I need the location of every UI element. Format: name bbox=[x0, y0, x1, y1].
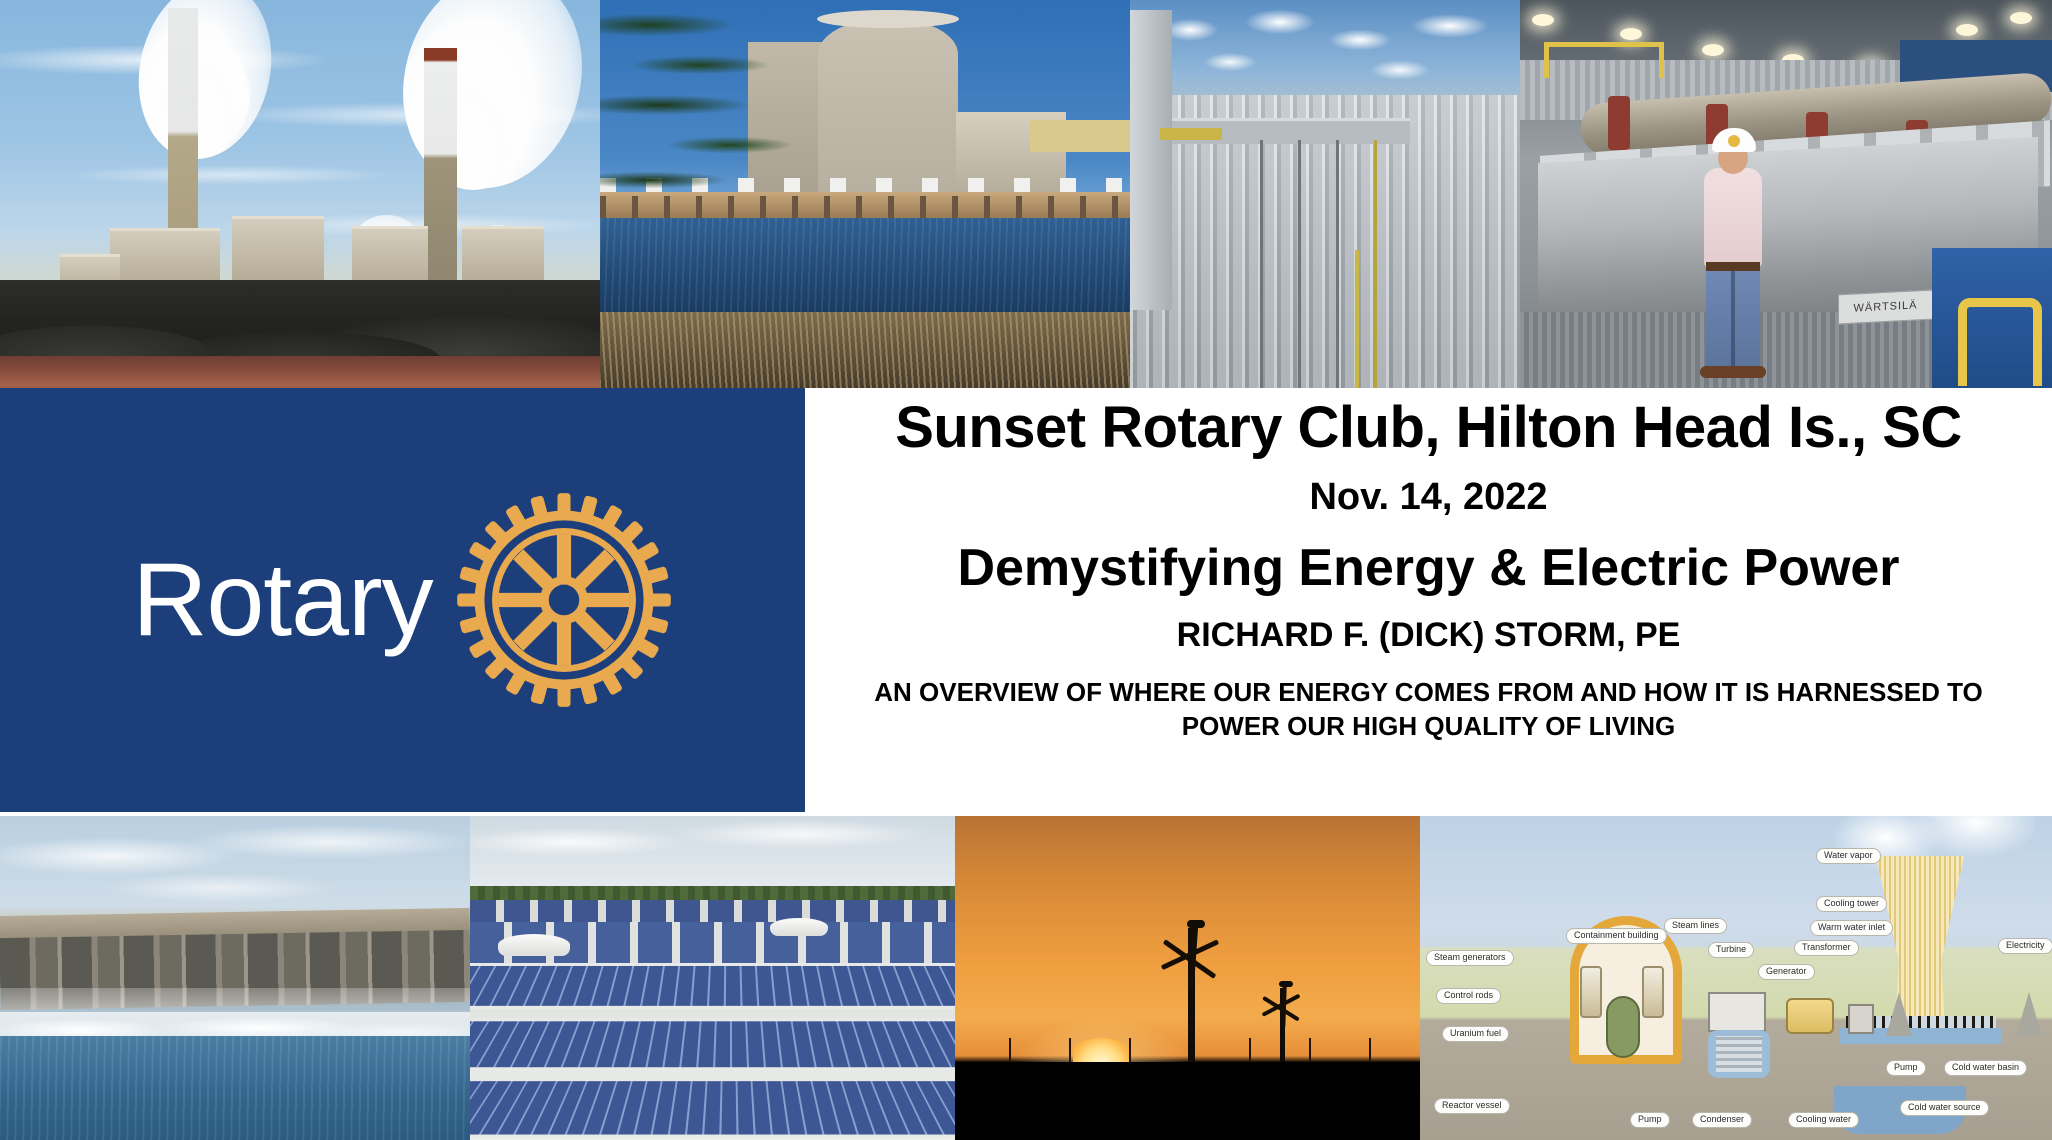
rotary-wordmark: Rotary bbox=[132, 548, 432, 652]
ceiling-light-icon bbox=[1956, 24, 1978, 36]
ceiling-light-icon bbox=[2010, 12, 2032, 24]
nuclear-power-plant-waterfront bbox=[600, 0, 1130, 398]
pipe-run bbox=[1374, 140, 1377, 390]
club-line: Sunset Rotary Club, Hilton Head Is., SC bbox=[895, 396, 1962, 461]
solar-panel-row bbox=[470, 1078, 955, 1138]
nuclear-plant-diagram: Steam generators Control rods Uranium fu… bbox=[1420, 816, 2052, 1140]
label-cooling-water: Cooling water bbox=[1788, 1112, 1859, 1128]
title-band: Rotary bbox=[0, 388, 2052, 816]
label-cold-water-basin: Cold water basin bbox=[1944, 1060, 2027, 1076]
person-belt bbox=[1706, 262, 1760, 271]
dark-ground bbox=[955, 1062, 1420, 1140]
reactor-vessel-shape bbox=[1606, 996, 1640, 1058]
bottom-photo-strip: Steam generators Control rods Uranium fu… bbox=[0, 816, 2052, 1140]
label-containment-building: Containment building bbox=[1566, 928, 1667, 944]
sky bbox=[470, 816, 955, 894]
gas-plant-piping bbox=[1130, 0, 1520, 398]
pipe-run bbox=[1298, 140, 1301, 390]
yellow-equipment bbox=[1160, 128, 1222, 140]
generator-shape bbox=[1786, 998, 1834, 1034]
solar-panel-row bbox=[470, 1018, 955, 1071]
label-pump-right: Pump bbox=[1886, 1060, 1926, 1076]
hydroelectric-dam bbox=[0, 816, 470, 1140]
turbine-nacelle bbox=[1187, 920, 1205, 928]
steam-generator-shape bbox=[1580, 966, 1602, 1018]
wartsila-engine-hall: WÄRTSILÄ bbox=[1520, 0, 2052, 398]
ceiling-light-icon bbox=[1620, 28, 1642, 40]
presentation-slide: WÄRTSILÄ Rotary bbox=[0, 0, 2052, 1140]
wind-turbine bbox=[1187, 868, 1195, 1064]
label-uranium-fuel: Uranium fuel bbox=[1442, 1026, 1509, 1042]
rotary-gear-wheel-icon bbox=[455, 491, 673, 709]
dry-grass-foreground bbox=[600, 312, 1130, 398]
ceiling-light-icon bbox=[1702, 44, 1724, 56]
presentation-title: Demystifying Energy & Electric Power bbox=[957, 539, 1899, 597]
sky-clouds bbox=[0, 816, 470, 912]
label-steam-lines: Steam lines bbox=[1664, 918, 1727, 934]
plant-building bbox=[462, 226, 544, 288]
rooftop-solar-array bbox=[470, 816, 955, 1140]
pipe-clamp bbox=[1608, 96, 1630, 150]
label-turbine: Turbine bbox=[1708, 942, 1754, 958]
label-steam-generators: Steam generators bbox=[1426, 950, 1514, 966]
yellow-pipe bbox=[1355, 250, 1359, 390]
label-warm-water-inlet: Warm water inlet bbox=[1810, 920, 1893, 936]
steam-generator-shape bbox=[1642, 966, 1664, 1018]
cumulus-clouds bbox=[1130, 0, 1520, 110]
pipe-run bbox=[1260, 140, 1263, 390]
label-condenser: Condenser bbox=[1692, 1112, 1752, 1128]
engine-nameplate-text: WÄRTSILÄ bbox=[1853, 299, 1917, 314]
presentation-subtitle: AN OVERVIEW OF WHERE OUR ENERGY COMES FR… bbox=[874, 676, 1984, 743]
water-surface bbox=[600, 218, 1130, 326]
condenser-shape bbox=[1708, 1030, 1770, 1078]
plant-building bbox=[232, 216, 324, 288]
pipe-run bbox=[1336, 140, 1339, 390]
transmission-pylon-icon bbox=[1886, 992, 1912, 1036]
label-cold-water-source: Cold water source bbox=[1900, 1100, 1989, 1116]
turbine-nacelle bbox=[1279, 981, 1293, 987]
exhaust-stack bbox=[1130, 10, 1172, 310]
title-text-panel: Sunset Rotary Club, Hilton Head Is., SC … bbox=[805, 388, 2052, 816]
ceiling-light-icon bbox=[1532, 14, 1554, 26]
yellow-building bbox=[1030, 120, 1130, 152]
person-torso bbox=[1704, 168, 1762, 268]
roof-skylight bbox=[498, 934, 570, 956]
person-shoes bbox=[1700, 366, 1766, 378]
turbine-shape bbox=[1708, 992, 1766, 1032]
transformer-shape bbox=[1848, 1004, 1874, 1034]
engine-nameplate: WÄRTSILÄ bbox=[1838, 290, 1933, 325]
transmission-pylon-icon bbox=[2016, 992, 2042, 1036]
tree-line bbox=[470, 886, 955, 900]
top-photo-strip: WÄRTSILÄ bbox=[0, 0, 2052, 398]
label-water-vapor: Water vapor bbox=[1816, 848, 1881, 864]
river-water bbox=[0, 1036, 470, 1140]
coal-fired-power-plant bbox=[0, 0, 600, 398]
rotary-logo-panel: Rotary bbox=[0, 388, 805, 812]
pine-branches bbox=[600, 0, 860, 225]
presentation-date: Nov. 14, 2022 bbox=[1309, 477, 1547, 519]
label-electricity: Electricity bbox=[1998, 938, 2052, 954]
wind-turbine bbox=[1279, 948, 1285, 1066]
label-control-rods: Control rods bbox=[1436, 988, 1501, 1004]
wind-turbines-sunset bbox=[955, 816, 1420, 1140]
solar-panel-row bbox=[470, 963, 955, 1010]
label-generator: Generator bbox=[1758, 964, 1815, 980]
roof-skylight bbox=[770, 918, 828, 936]
yellow-handrail bbox=[1958, 298, 2042, 386]
presenter-name: RICHARD F. (DICK) STORM, PE bbox=[1177, 617, 1681, 654]
smokestack bbox=[424, 48, 457, 288]
label-transformer: Transformer bbox=[1794, 940, 1859, 956]
label-cooling-tower: Cooling tower bbox=[1816, 896, 1887, 912]
coal-pile bbox=[0, 280, 600, 358]
label-reactor-vessel: Reactor vessel bbox=[1434, 1098, 1510, 1114]
yellow-platform-railing bbox=[1544, 42, 1664, 78]
label-pump-left: Pump bbox=[1630, 1112, 1670, 1128]
person-legs bbox=[1706, 270, 1760, 370]
